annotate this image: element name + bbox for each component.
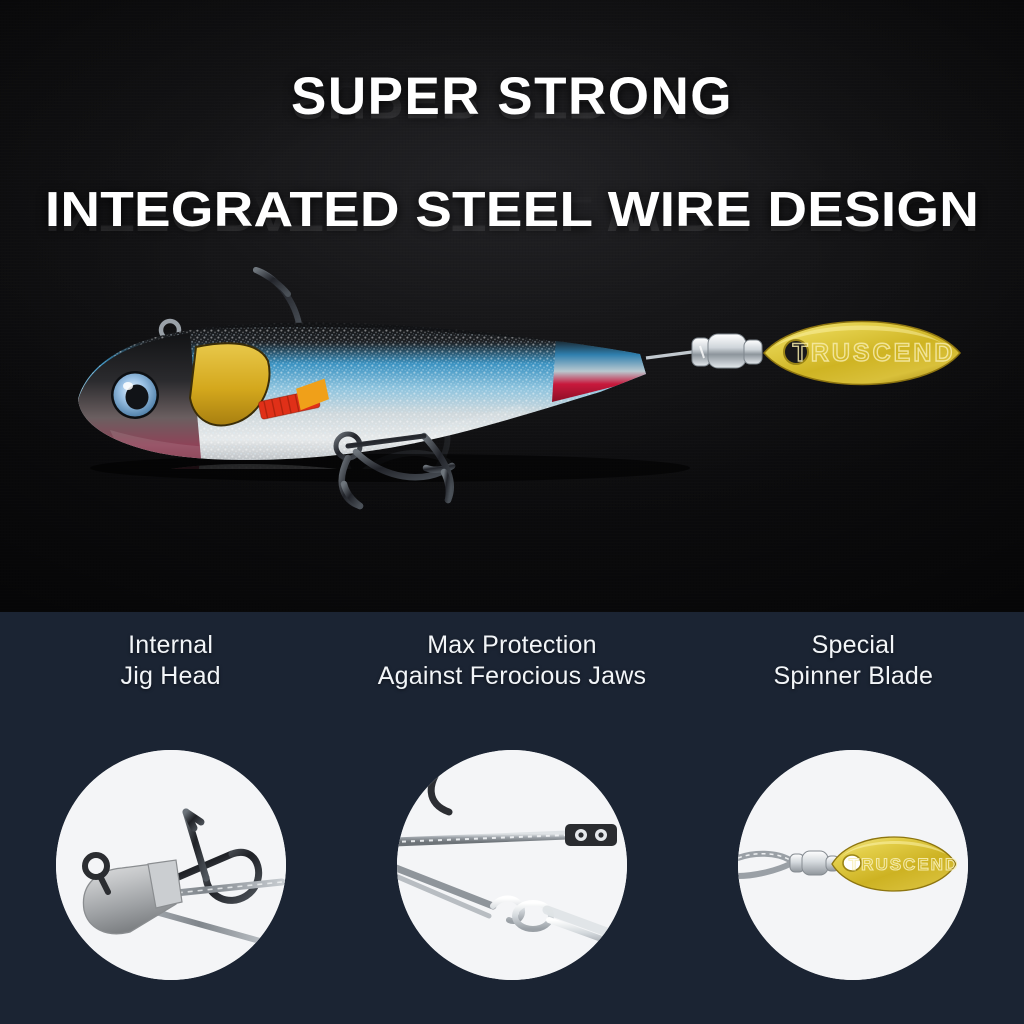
feature-caption-1: Internal Jig Head [121, 630, 221, 691]
hero-panel: TRUSCEND SUPER STRONG SUPER STRONG INTEG… [0, 0, 1024, 612]
tail-accent [552, 338, 650, 402]
blade-brand-text: TRUSCEND [793, 339, 956, 367]
feature-image-spinner-blade: TRUSCEND [738, 750, 968, 980]
spinner-blade: TRUSCEND [764, 322, 960, 385]
feature-blade-brand-text: TRUSCEND [849, 855, 959, 874]
product-infographic: TRUSCEND SUPER STRONG SUPER STRONG INTEG… [0, 0, 1024, 1024]
feature-internal-jig-head: Internal Jig Head [0, 612, 341, 1024]
feature-caption-3: Special Spinner Blade [773, 630, 933, 691]
feature-max-protection: Max Protection Against Ferocious Jaws [341, 612, 682, 1024]
feature-spinner-blade: Special Spinner Blade [683, 612, 1024, 1024]
headline-line-2-reflection: INTEGRATED STEEL WIRE DESIGN [0, 189, 1024, 236]
feature-image-steel-wire-leader [397, 750, 627, 980]
feature-image-jig-head [56, 750, 286, 980]
ball-bearing-swivel [692, 334, 762, 368]
features-panel: Internal Jig Head [0, 612, 1024, 1024]
headline-line-1-reflection: SUPER STRONG [0, 73, 1024, 124]
feature-caption-2: Max Protection Against Ferocious Jaws [378, 630, 646, 691]
lure-eye [111, 371, 159, 419]
headline-block: SUPER STRONG SUPER STRONG INTEGRATED STE… [0, 72, 1024, 283]
steel-wire [646, 352, 692, 358]
